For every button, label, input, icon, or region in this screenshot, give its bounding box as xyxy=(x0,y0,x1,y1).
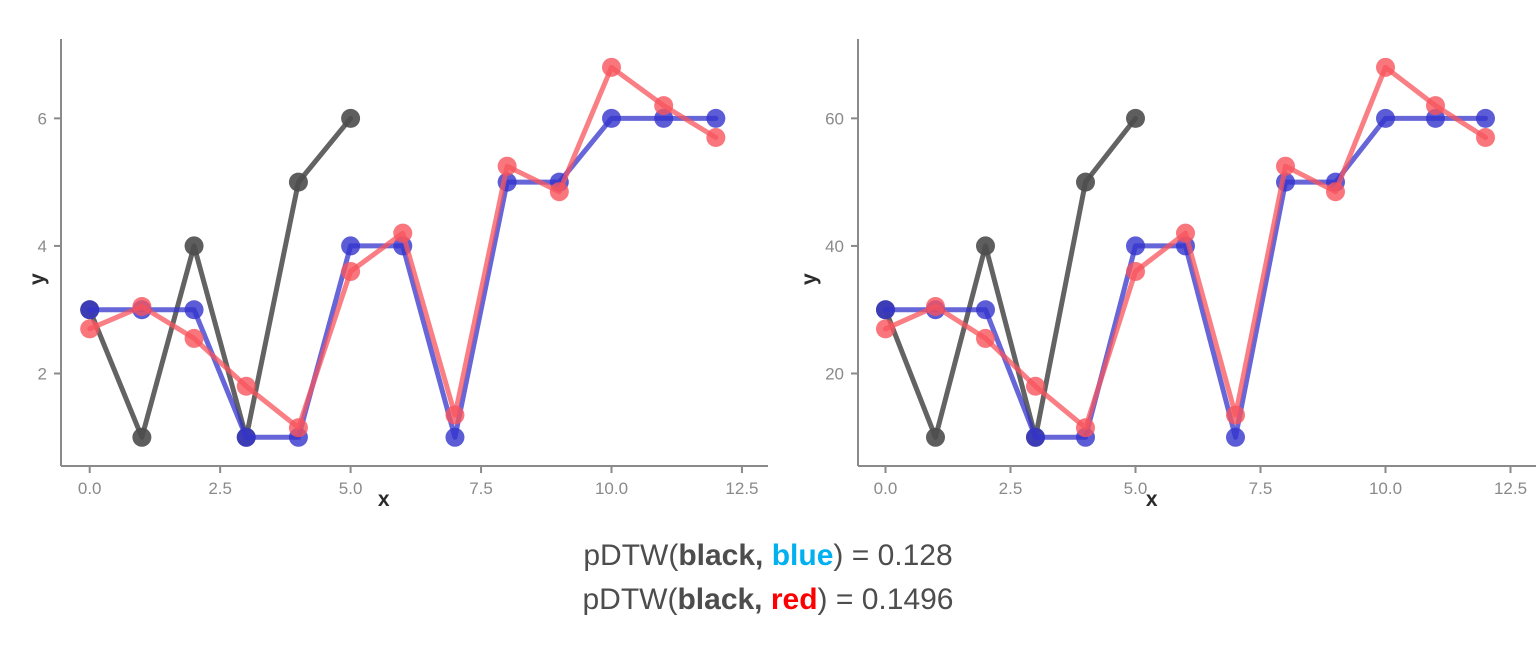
data-point-red xyxy=(341,262,360,281)
data-point-red xyxy=(602,58,621,77)
x-axis-title-right: x xyxy=(768,488,1536,512)
data-point-black xyxy=(132,428,151,447)
data-point-red xyxy=(80,319,99,338)
y-tick-label: 6 xyxy=(38,109,47,128)
y-tick-label: 2 xyxy=(38,365,47,384)
series-black xyxy=(80,109,360,447)
data-point-red xyxy=(1326,182,1345,201)
data-point-red xyxy=(550,182,569,201)
data-point-blue xyxy=(1126,236,1145,255)
data-point-red xyxy=(185,329,204,348)
data-point-blue xyxy=(602,109,621,128)
pdtw-arg-black-0: black, xyxy=(678,539,771,572)
y-tick-label: 20 xyxy=(825,365,844,384)
data-point-red xyxy=(1276,157,1295,176)
data-point-blue xyxy=(237,428,256,447)
data-point-red xyxy=(876,319,895,338)
data-point-blue xyxy=(445,428,464,447)
data-point-black xyxy=(289,173,308,192)
y-tick-label: 40 xyxy=(825,237,844,256)
pdtw-equals-0: ) = xyxy=(833,539,877,572)
data-point-red xyxy=(926,297,945,316)
panels-container: 0.02.55.07.510.012.5246 y x 0.02.55.07.5… xyxy=(0,0,1536,520)
data-point-red xyxy=(289,418,308,437)
data-point-red xyxy=(1426,96,1445,115)
data-point-red xyxy=(1026,377,1045,396)
data-point-red xyxy=(706,128,725,147)
data-point-black xyxy=(185,236,204,255)
data-point-blue xyxy=(976,300,995,319)
data-point-red xyxy=(1176,224,1195,243)
chart-panel-right: 0.02.55.07.510.012.5204060 y x xyxy=(768,0,1536,520)
data-point-red xyxy=(976,329,995,348)
data-point-black xyxy=(341,109,360,128)
data-point-blue xyxy=(1476,109,1495,128)
data-point-blue xyxy=(1026,428,1045,447)
data-point-red xyxy=(393,224,412,243)
pdtw-annotation: pDTW(black, blue) = 0.128 pDTW(black, re… xyxy=(0,534,1536,621)
pdtw-prefix-0: pDTW( xyxy=(583,539,678,572)
data-point-blue xyxy=(1376,109,1395,128)
series-blue xyxy=(876,109,1495,447)
data-point-black xyxy=(976,236,995,255)
y-axis-title-left: y xyxy=(26,273,50,285)
data-point-blue xyxy=(185,300,204,319)
data-point-blue xyxy=(1226,428,1245,447)
x-axis-title-left: x xyxy=(0,488,768,512)
y-tick-label: 4 xyxy=(38,237,47,256)
data-point-red xyxy=(1126,262,1145,281)
data-point-red xyxy=(1476,128,1495,147)
pdtw-value-1: 0.1496 xyxy=(862,583,954,616)
data-point-blue xyxy=(341,236,360,255)
data-point-red xyxy=(498,157,517,176)
data-point-red xyxy=(237,377,256,396)
pdtw-arg-color-0: blue xyxy=(772,539,834,572)
plot-area-left: 0.02.55.07.510.012.5246 xyxy=(0,0,768,520)
data-point-blue xyxy=(876,300,895,319)
figure-root: 0.02.55.07.510.012.5246 y x 0.02.55.07.5… xyxy=(0,0,1536,665)
data-point-blue xyxy=(80,300,99,319)
pdtw-line-blue: pDTW(black, blue) = 0.128 xyxy=(0,534,1536,578)
data-point-red xyxy=(654,96,673,115)
data-point-red xyxy=(132,297,151,316)
data-point-red xyxy=(1076,418,1095,437)
pdtw-arg-black-1: black, xyxy=(677,583,770,616)
pdtw-arg-color-1: red xyxy=(771,583,818,616)
data-point-red xyxy=(1226,405,1245,424)
pdtw-prefix-1: pDTW( xyxy=(582,583,677,616)
data-point-black xyxy=(926,428,945,447)
chart-panel-left: 0.02.55.07.510.012.5246 y x xyxy=(0,0,768,520)
series-black xyxy=(876,109,1145,447)
series-blue xyxy=(80,109,725,447)
y-tick-label: 60 xyxy=(825,109,844,128)
pdtw-line-red: pDTW(black, red) = 0.1496 xyxy=(0,578,1536,622)
plot-area-right: 0.02.55.07.510.012.5204060 xyxy=(768,0,1536,520)
data-point-red xyxy=(445,405,464,424)
data-point-red xyxy=(1376,58,1395,77)
pdtw-value-0: 0.128 xyxy=(878,539,953,572)
pdtw-equals-1: ) = xyxy=(818,583,862,616)
data-point-black xyxy=(1076,173,1095,192)
y-axis-title-right: y xyxy=(798,273,822,285)
data-point-black xyxy=(1126,109,1145,128)
data-point-blue xyxy=(706,109,725,128)
